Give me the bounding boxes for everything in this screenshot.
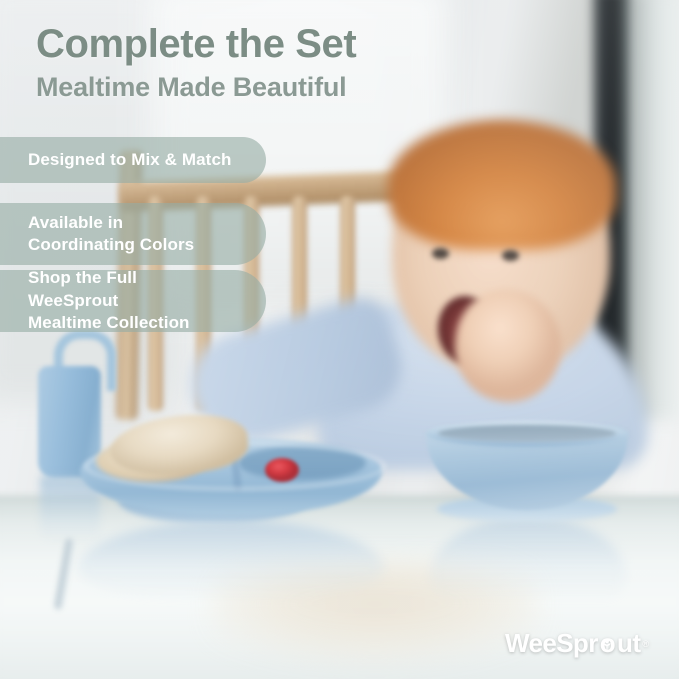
registered-trademark: ® xyxy=(642,639,648,649)
logo-text-before: WeeSpr xyxy=(505,628,598,659)
logo-o-with-sprout: o xyxy=(600,628,615,659)
product-banner: Complete the Set Mealtime Made Beautiful… xyxy=(0,0,679,679)
page-title: Complete the Set xyxy=(36,24,356,64)
logo-text-after: ut xyxy=(617,628,640,659)
food-raspberry xyxy=(265,458,299,482)
page-subtitle: Mealtime Made Beautiful xyxy=(36,74,346,101)
feature-pill-line: Mealtime Collection xyxy=(28,312,232,334)
sprout-icon xyxy=(600,637,615,652)
bowl-interior xyxy=(438,425,616,442)
feature-pill-list: Designed to Mix & Match Available in Coo… xyxy=(0,137,300,332)
feature-pill-line: Shop the Full WeeSprout xyxy=(28,267,232,312)
child-eye xyxy=(502,250,519,261)
child-eye xyxy=(432,248,449,259)
feature-pill-line: Designed to Mix & Match xyxy=(28,149,232,171)
feature-pill-line: Coordinating Colors xyxy=(28,234,194,256)
feature-pill-mix-match[interactable]: Designed to Mix & Match xyxy=(0,137,266,183)
feature-pill-line: Available in xyxy=(28,212,194,234)
window-frame-light xyxy=(628,0,679,420)
feature-pill-coordinating-colors[interactable]: Available in Coordinating Colors xyxy=(0,203,266,265)
feature-pill-shop-collection[interactable]: Shop the Full WeeSprout Mealtime Collect… xyxy=(0,270,266,332)
weesprout-logo[interactable]: WeeSprout® xyxy=(505,628,648,659)
child-hair xyxy=(388,120,616,250)
